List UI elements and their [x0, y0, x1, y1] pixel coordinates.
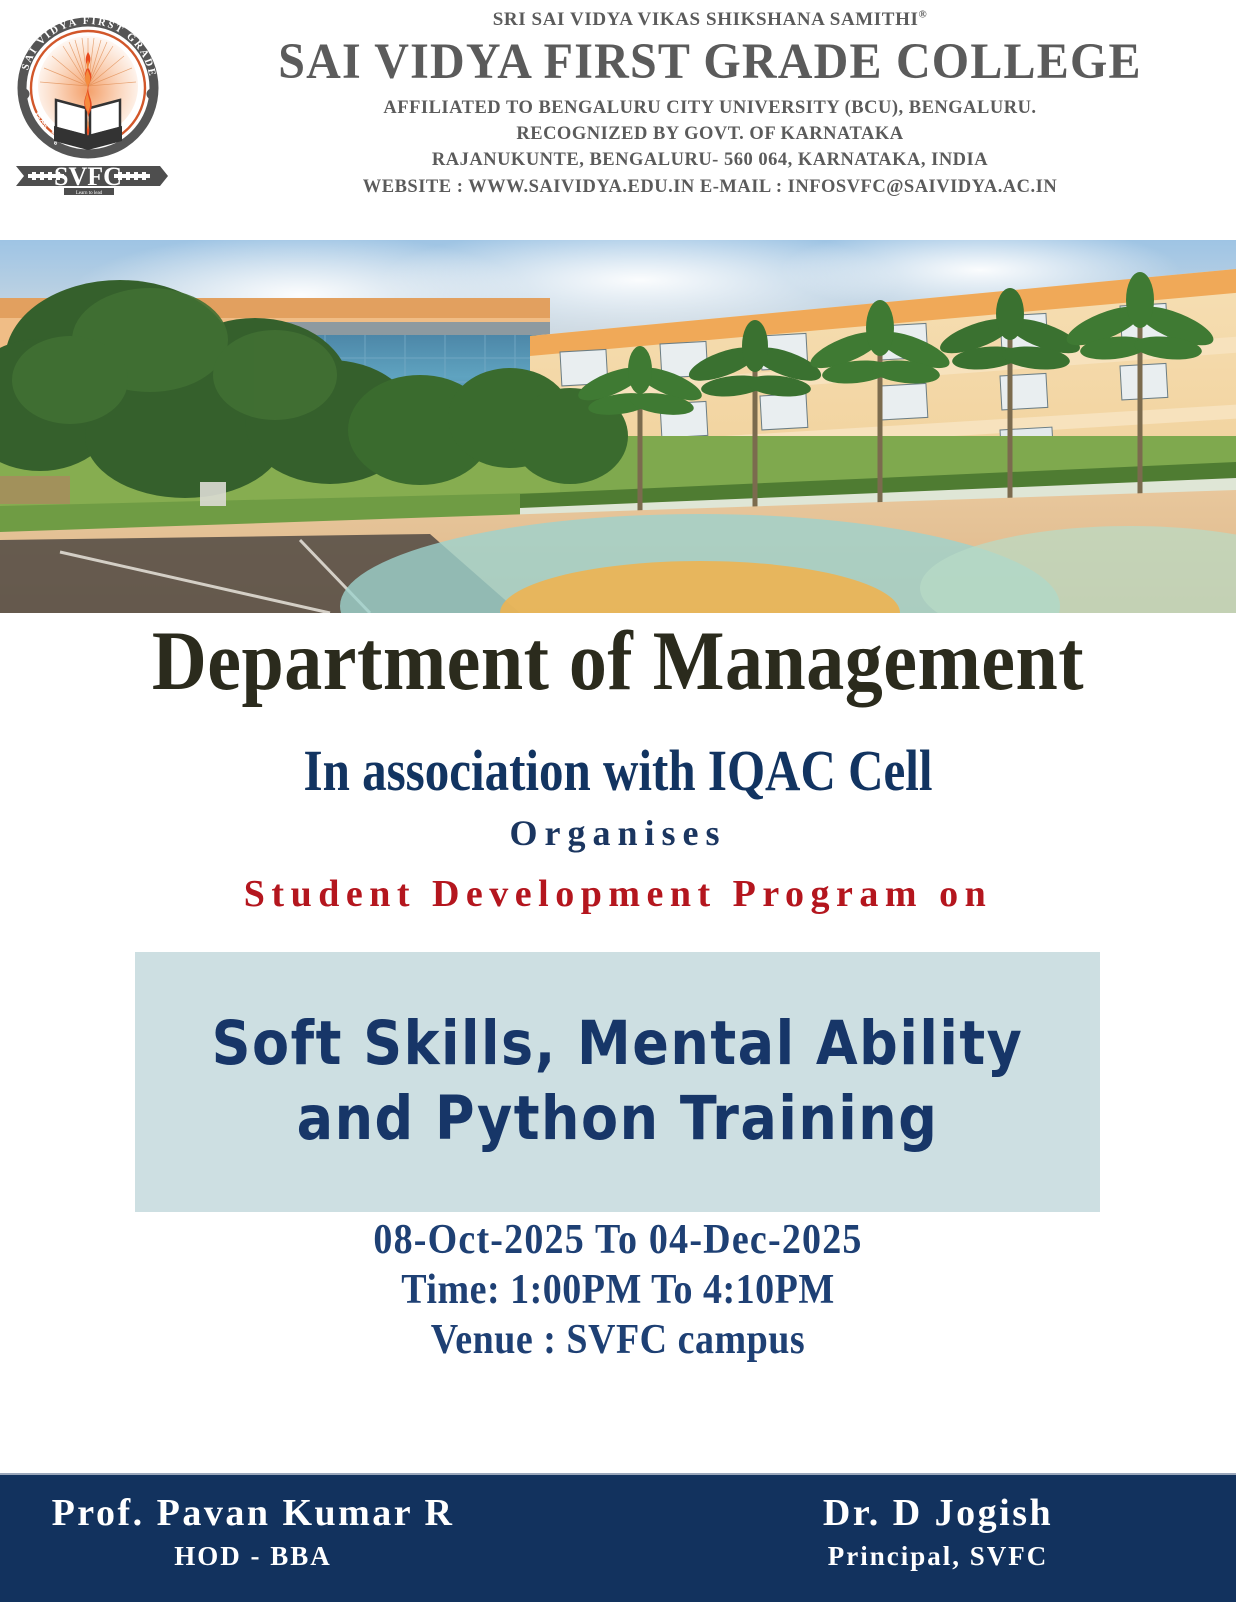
svg-text:SVFC: SVFC [54, 162, 122, 191]
address-line: RAJANUKUNTE, BENGALURU- 560 064, KARNATA… [190, 147, 1230, 173]
signatory-footer: Prof. Pavan Kumar R HOD - BBA Dr. D Jogi… [0, 1473, 1236, 1602]
event-dates: 08-Oct-2025 To 04-Dec-2025 [0, 1212, 1236, 1267]
signatory-hod: Prof. Pavan Kumar R HOD - BBA [18, 1491, 488, 1572]
registered-trademark-icon: ® [918, 9, 927, 21]
program-topic-box: Soft Skills, Mental Ability and Python T… [135, 952, 1100, 1212]
program-type-label: Student Development Program on [0, 872, 1236, 916]
college-name: SAI VIDYA FIRST GRADE COLLEGE [190, 32, 1230, 90]
department-title: Department of Management [0, 613, 1236, 710]
event-time: Time: 1:00PM To 4:10PM [0, 1263, 1236, 1318]
hod-role: HOD - BBA [18, 1541, 488, 1572]
signatory-principal: Dr. D Jogish Principal, SVFC [748, 1491, 1128, 1572]
event-venue: Venue : SVFC campus [0, 1313, 1236, 1368]
society-name: SRI SAI VIDYA VIKAS SHIKSHANA SAMITHI® [190, 8, 1230, 32]
topic-line-2: and Python Training [297, 1078, 939, 1161]
topic-line-1: Soft Skills, Mental Ability [212, 1003, 1024, 1086]
society-name-text: SRI SAI VIDYA VIKAS SHIKSHANA SAMITHI [493, 9, 919, 30]
contact-line: WEBSITE : WWW.SAIVIDYA.EDU.IN E-MAIL : I… [190, 174, 1230, 200]
svg-text:Learn to lead: Learn to lead [76, 191, 103, 196]
affiliation-line: AFFILIATED TO BENGALURU CITY UNIVERSITY … [190, 95, 1230, 121]
organises-label: Organises [0, 812, 1236, 854]
hod-name: Prof. Pavan Kumar R [18, 1491, 488, 1537]
college-crest-logo: SAI VIDYA FIRST GRADE COLLEGE ಸಾಯಿ ವಿದ್ಯ… [6, 8, 181, 198]
recognition-line: RECOGNIZED BY GOVT. OF KARNATAKA [190, 121, 1230, 147]
association-line: In association with IQAC Cell [0, 737, 1236, 804]
principal-role: Principal, SVFC [748, 1541, 1128, 1572]
poster-header: SAI VIDYA FIRST GRADE COLLEGE ಸಾಯಿ ವಿದ್ಯ… [0, 0, 1236, 210]
event-details: 08-Oct-2025 To 04-Dec-2025 Time: 1:00PM … [0, 1215, 1236, 1365]
principal-name: Dr. D Jogish [748, 1491, 1128, 1537]
header-text-block: SRI SAI VIDYA VIKAS SHIKSHANA SAMITHI® S… [190, 8, 1230, 200]
campus-photograph [0, 240, 1236, 613]
